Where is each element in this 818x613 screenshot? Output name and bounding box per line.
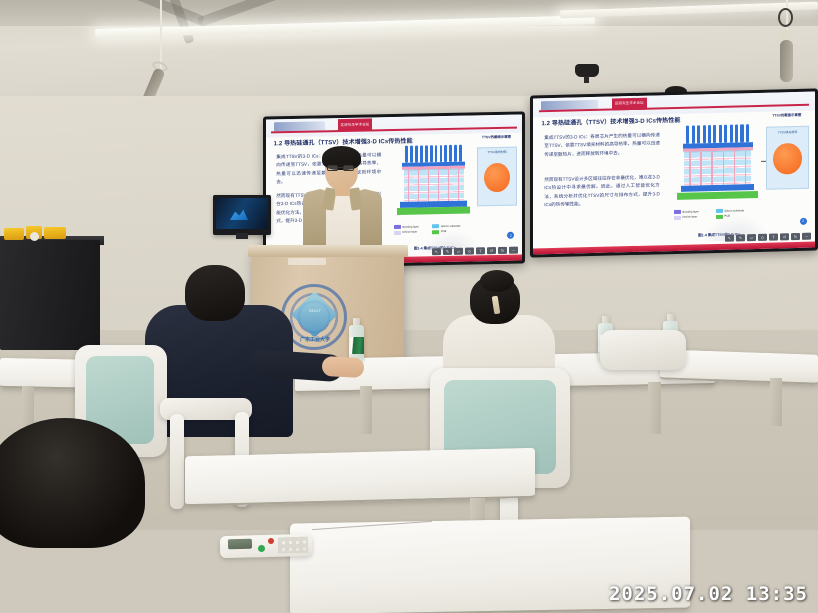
cross-section-core: [773, 143, 801, 175]
lectern-top: [248, 245, 408, 257]
seminar-room-photo: 区研究生学术论坛 1.2 导热硅通孔（TTSV）技术增强3-D ICs传热性能 …: [0, 0, 818, 613]
slide-diagram: [674, 124, 761, 207]
cross-section-panel: TTSV填充材料: [477, 147, 517, 206]
ceiling-camera-mount: [584, 76, 589, 83]
foreground-attendee-head: [0, 418, 145, 548]
redo-icon[interactable]: ↻: [791, 233, 800, 240]
bottle-cap: [602, 316, 610, 323]
legend-label: Device layer: [683, 216, 698, 219]
toy-train-car: [4, 228, 24, 240]
legend-label: Silicon substrate: [441, 224, 461, 227]
ttsv-vias: [684, 150, 750, 186]
water-bottle[interactable]: [349, 318, 364, 362]
slide-paragraph-2: 然而现有TTSV设计多区域往往存在非最优化，难以在3-D ICs热设计中寻求最优…: [544, 173, 660, 210]
cross-section-panel: TTSV填充材料: [766, 126, 810, 189]
legend-swatch: [674, 216, 681, 220]
legend-item: Silicon substrate: [432, 224, 467, 229]
table-leg: [360, 386, 372, 434]
legend-swatch: [674, 210, 681, 214]
glasses-icon: [327, 165, 338, 171]
text-icon[interactable]: T: [476, 247, 485, 254]
table-leg: [770, 378, 782, 426]
microphone-ring-icon: [778, 8, 793, 27]
undo-icon[interactable]: ↺: [780, 233, 789, 240]
legend-swatch: [394, 230, 401, 234]
redo-icon[interactable]: ↻: [498, 246, 507, 253]
slide-page-number: 2: [800, 217, 807, 224]
slide-page-number: 2: [507, 232, 514, 239]
remote-keypad[interactable]: [278, 537, 308, 554]
bottle-cap: [353, 318, 361, 325]
glasses-icon: [343, 165, 354, 171]
legend-swatch: [716, 209, 723, 213]
pcb-layer: [677, 191, 757, 200]
emblem-chinese-name: 广东工业大学: [290, 336, 340, 343]
eraser-icon[interactable]: ▱: [454, 247, 463, 254]
shape-icon[interactable]: ◇: [465, 247, 474, 254]
legend-item: Bonding layer: [394, 224, 429, 229]
more-icon[interactable]: ⋯: [509, 246, 518, 253]
bottle-label: [349, 337, 364, 354]
emblem-acronym: GDUT: [296, 308, 334, 313]
toy-wheel-icon: [30, 232, 39, 241]
cross-section-core: [484, 163, 510, 193]
wall-monitor-mount: [236, 233, 248, 239]
eraser-icon[interactable]: ▱: [747, 234, 756, 241]
remote-mode-button[interactable]: [268, 538, 274, 544]
pointer-icon[interactable]: ↖: [432, 248, 441, 255]
lectern-plate: [288, 258, 326, 265]
chair-right[interactable]: [600, 330, 686, 370]
legend-label: Silicon substrate: [724, 209, 744, 212]
hanging-microphone: [780, 40, 793, 82]
shape-icon[interactable]: ◇: [758, 234, 767, 241]
pointer-icon[interactable]: ↖: [725, 234, 734, 241]
right-presentation-screen[interactable]: 区研究生学术论坛 1.2 导热硅通孔（TTSV）技术增强3-D ICs传热性能 …: [530, 88, 818, 257]
legend-label: Bonding layer: [403, 225, 419, 228]
table-leg: [648, 382, 661, 434]
cross-section-caption: TTSV的截面示意图: [476, 134, 517, 140]
cross-section-inner-label: TTSV填充材料: [767, 129, 809, 134]
legend-label: Device layer: [403, 231, 418, 234]
attendee-woman-hair-bun: [480, 270, 514, 292]
av-cabinet: [0, 240, 100, 350]
ttsv-vias: [404, 169, 464, 202]
text-icon[interactable]: T: [769, 233, 778, 240]
undo-icon[interactable]: ↺: [487, 247, 496, 254]
heat-sink-fins: [686, 124, 749, 143]
glasses-bridge: [338, 167, 343, 168]
toy-train-car: [44, 227, 66, 239]
timestamp-overlay: 2025.07.02 13:35: [609, 583, 808, 605]
remote-power-button[interactable]: [258, 545, 265, 552]
heat-sink-fins: [405, 145, 462, 163]
slide-paragraph-1: 集成TTSV的3-D ICs：各层芯片产生的热量可以横向传递至TTSV，依靠TT…: [544, 131, 660, 159]
remote-lcd-display: [228, 539, 252, 550]
legend-swatch: [432, 224, 439, 228]
legend-item: Bonding layer: [674, 209, 713, 214]
legend-swatch: [394, 225, 401, 229]
more-icon[interactable]: ⋯: [802, 232, 811, 239]
pen-icon[interactable]: ✎: [736, 234, 745, 241]
legend-label: Bonding layer: [683, 210, 699, 213]
attendee-man-head: [185, 265, 245, 321]
pcb-layer: [397, 207, 470, 215]
attendee-man-hand: [322, 356, 365, 378]
cross-section-inner-label: TTSV填充材料: [478, 150, 516, 155]
right-screen-content: 区研究生学术论坛 1.2 导热硅通孔（TTSV）技术增强3-D ICs传热性能 …: [533, 92, 815, 255]
legend-item: Silicon substrate: [716, 208, 755, 213]
slide-diagram: [394, 145, 473, 222]
chair-left-leg: [170, 414, 184, 509]
pen-icon[interactable]: ✎: [443, 247, 452, 254]
bottle-cap: [667, 314, 675, 321]
